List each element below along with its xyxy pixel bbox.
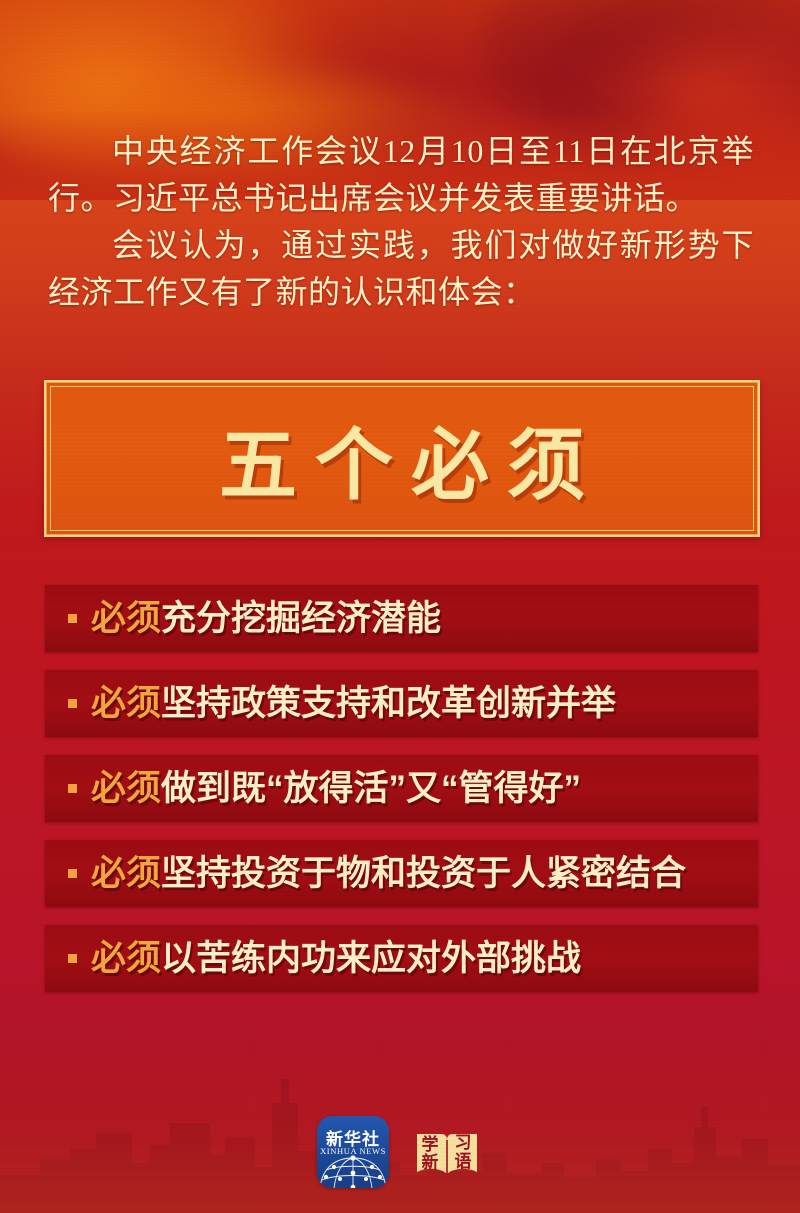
list-item: 必须坚持政策支持和改革创新并举 <box>45 670 758 737</box>
list-item-text: 必须充分挖掘经济潜能 <box>91 601 441 636</box>
open-book-icon: 学 习 新 语 <box>411 1116 483 1188</box>
intro-paragraph-1: 中央经济工作会议12月10日至11日在北京举行。习近平总书记出席会议并发表重要讲… <box>48 128 754 222</box>
bullet-list: 必须充分挖掘经济潜能 必须坚持政策支持和改革创新并举 必须做到既“放得活”又“管… <box>45 585 758 992</box>
square-bullet-icon <box>68 614 77 623</box>
intro-paragraph-2: 会议认为，通过实践，我们对做好新形势下经济工作又有了新的认识和体会： <box>48 222 754 316</box>
square-bullet-icon <box>68 954 77 963</box>
list-item: 必须以苦练内功来应对外部挑战 <box>45 925 758 992</box>
list-item-rest: 充分挖掘经济潜能 <box>161 599 441 638</box>
list-item-lead: 必须 <box>91 599 161 638</box>
poster-root: 中央经济工作会议12月10日至11日在北京举行。习近平总书记出席会议并发表重要讲… <box>0 0 800 1213</box>
square-bullet-icon <box>68 784 77 793</box>
list-item-rest: 做到既“放得活”又“管得好” <box>161 769 581 808</box>
footer-logos: 新华社 XINHUA NEWS <box>0 1116 800 1188</box>
svg-text:习: 习 <box>455 1133 472 1152</box>
list-item: 必须做到既“放得活”又“管得好” <box>45 755 758 822</box>
list-item: 必须充分挖掘经济潜能 <box>45 585 758 652</box>
list-item-rest: 以苦练内功来应对外部挑战 <box>161 939 581 978</box>
list-item-lead: 必须 <box>91 684 161 723</box>
svg-text:语: 语 <box>455 1152 472 1171</box>
square-bullet-icon <box>68 869 77 878</box>
list-item-text: 必须坚持投资于物和投资于人紧密结合 <box>91 856 686 891</box>
list-item-rest: 坚持投资于物和投资于人紧密结合 <box>161 854 686 893</box>
list-item-rest: 坚持政策支持和改革创新并举 <box>161 684 616 723</box>
square-bullet-icon <box>68 699 77 708</box>
svg-text:新: 新 <box>422 1152 439 1172</box>
intro-text-block: 中央经济工作会议12月10日至11日在北京举行。习近平总书记出席会议并发表重要讲… <box>48 128 754 316</box>
list-item-lead: 必须 <box>91 854 161 893</box>
list-item: 必须坚持投资于物和投资于人紧密结合 <box>45 840 758 907</box>
list-item-lead: 必须 <box>91 939 161 978</box>
svg-text:学: 学 <box>422 1134 439 1154</box>
list-item-text: 必须坚持政策支持和改革创新并举 <box>91 686 616 721</box>
list-item-text: 必须以苦练内功来应对外部挑战 <box>91 941 581 976</box>
title-plaque: 五个必须 <box>44 380 760 537</box>
list-item-lead: 必须 <box>91 769 161 808</box>
network-globe-icon <box>317 1154 389 1188</box>
xuexi-xinyu-logo[interactable]: 学 习 新 语 <box>411 1116 483 1188</box>
list-item-text: 必须做到既“放得活”又“管得好” <box>91 771 581 806</box>
xinhua-news-logo[interactable]: 新华社 XINHUA NEWS <box>317 1116 389 1188</box>
page-title: 五个必须 <box>201 403 603 515</box>
